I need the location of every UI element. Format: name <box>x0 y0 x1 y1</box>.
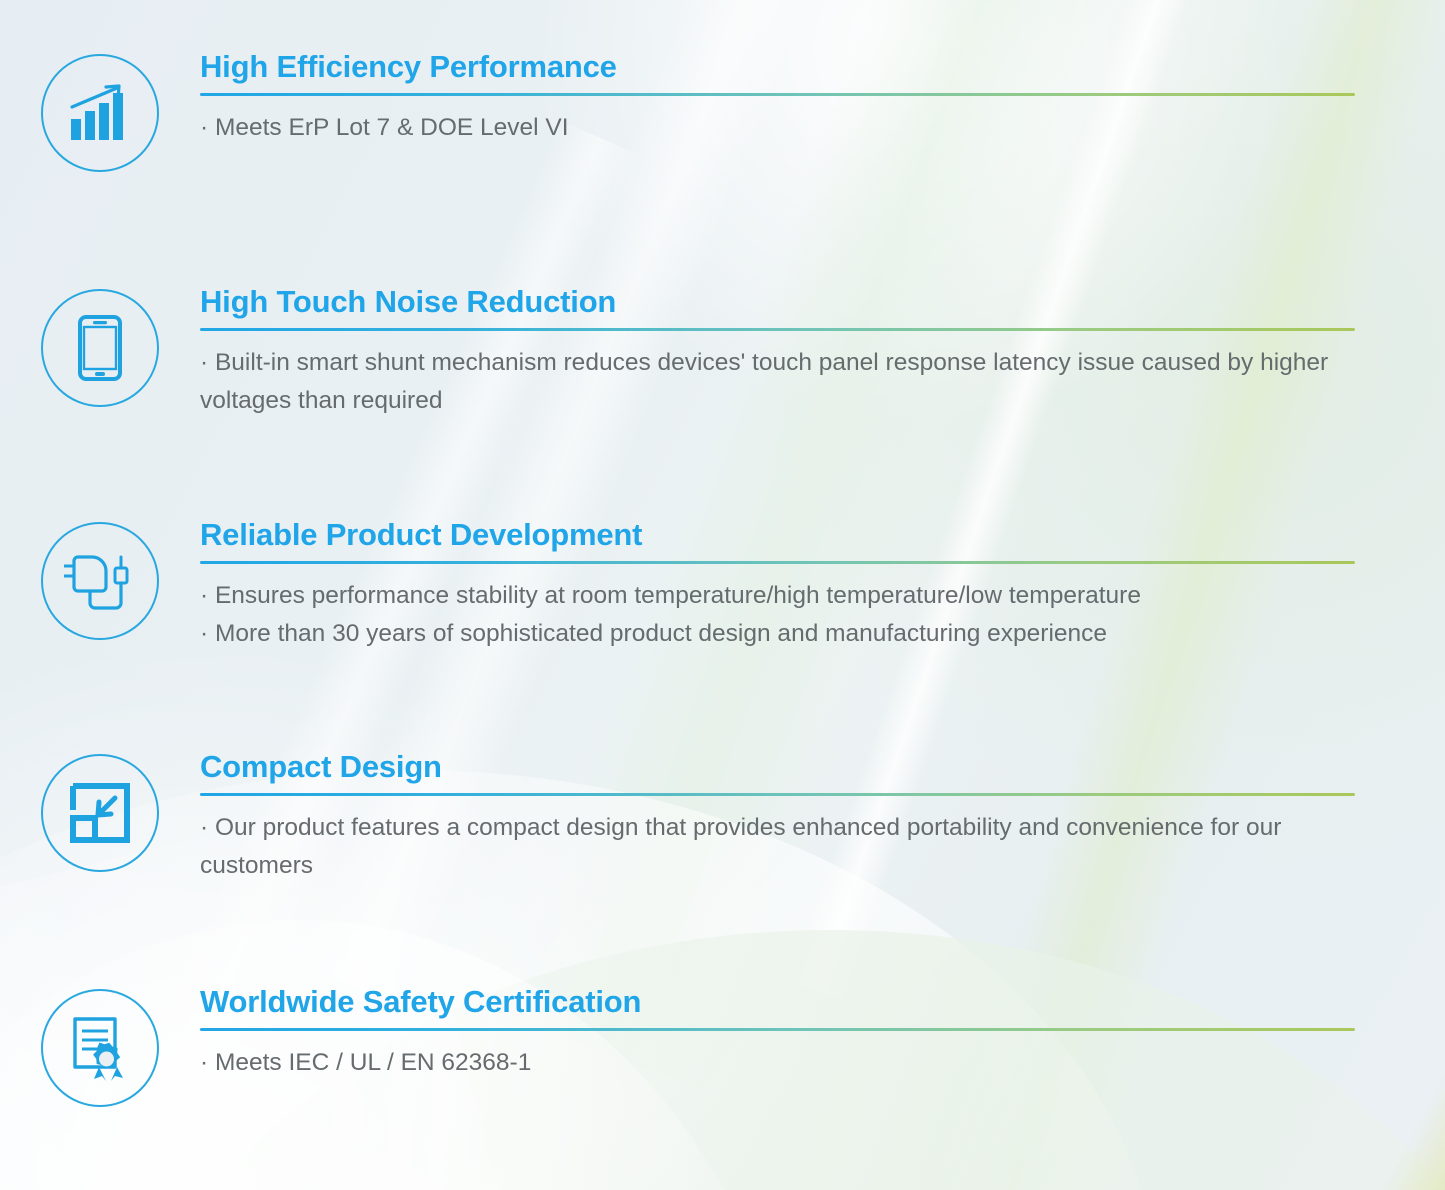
feature-text-cell: Compact Design · Our product features a … <box>200 750 1445 885</box>
feature-text-cell: High Efficiency Performance · Meets ErP … <box>200 50 1445 147</box>
power-adapter-icon <box>64 549 136 613</box>
feature-text-cell: Worldwide Safety Certification · Meets I… <box>200 985 1445 1082</box>
feature-divider <box>200 561 1355 564</box>
feature-item-high-efficiency-performance: High Efficiency Performance · Meets ErP … <box>0 50 1445 172</box>
feature-text-cell: Reliable Product Development · Ensures p… <box>200 518 1445 653</box>
feature-title: Compact Design <box>200 750 1367 783</box>
feature-bullet: · More than 30 years of sophisticated pr… <box>200 615 1365 653</box>
feature-item-worldwide-safety-certification: Worldwide Safety Certification · Meets I… <box>0 985 1445 1107</box>
feature-item-high-touch-noise-reduction: High Touch Noise Reduction · Built-in sm… <box>0 285 1445 420</box>
feature-divider <box>200 328 1355 331</box>
icon-circle <box>41 522 159 640</box>
feature-title: High Touch Noise Reduction <box>200 285 1367 318</box>
feature-body: · Meets IEC / UL / EN 62368-1 <box>200 1044 1365 1082</box>
feature-body: · Our product features a compact design … <box>200 809 1365 885</box>
icon-circle <box>41 989 159 1107</box>
feature-bullet: · Built-in smart shunt mechanism reduces… <box>186 344 1365 420</box>
feature-body: · Ensures performance stability at room … <box>200 577 1365 653</box>
feature-icon-cell <box>0 750 200 872</box>
feature-icon-cell <box>0 985 200 1107</box>
feature-title: Reliable Product Development <box>200 518 1367 551</box>
feature-item-reliable-product-development: Reliable Product Development · Ensures p… <box>0 518 1445 653</box>
feature-icon-cell <box>0 518 200 640</box>
feature-body: · Meets ErP Lot 7 & DOE Level VI <box>200 109 1365 147</box>
feature-text-cell: High Touch Noise Reduction · Built-in sm… <box>200 285 1445 420</box>
feature-bullet: · Meets ErP Lot 7 & DOE Level VI <box>200 109 1365 147</box>
feature-icon-cell <box>0 285 200 407</box>
feature-bullet: · Our product features a compact design … <box>186 809 1291 885</box>
feature-item-compact-design: Compact Design · Our product features a … <box>0 750 1445 885</box>
feature-divider <box>200 1028 1355 1031</box>
feature-icon-cell <box>0 50 200 172</box>
compact-resize-icon <box>69 782 131 844</box>
certificate-award-icon <box>69 1015 131 1081</box>
feature-divider <box>200 793 1355 796</box>
feature-title: High Efficiency Performance <box>200 50 1367 83</box>
smartphone-icon <box>78 315 122 381</box>
icon-circle <box>41 754 159 872</box>
feature-divider <box>200 93 1355 96</box>
feature-bullet: · Meets IEC / UL / EN 62368-1 <box>200 1044 1365 1082</box>
feature-title: Worldwide Safety Certification <box>200 985 1367 1018</box>
feature-bullet: · Ensures performance stability at room … <box>200 577 1365 615</box>
feature-body: · Built-in smart shunt mechanism reduces… <box>200 344 1365 420</box>
bar-chart-growth-icon <box>69 84 131 142</box>
icon-circle <box>41 289 159 407</box>
icon-circle <box>41 54 159 172</box>
